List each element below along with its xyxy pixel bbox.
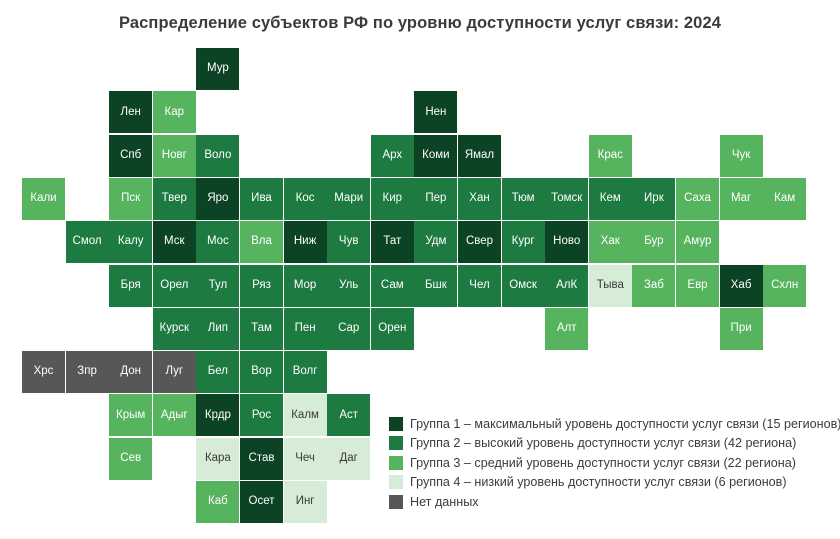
region-tile[interactable]: Саха (676, 178, 719, 220)
region-tile-label: Каб (208, 496, 228, 508)
region-tile[interactable]: Пен (284, 308, 327, 350)
region-tile-label: Ямал (465, 150, 494, 162)
region-tile-label: Тул (209, 280, 228, 292)
region-tile[interactable]: Новг (153, 135, 196, 177)
region-tile[interactable]: Бря (109, 265, 152, 307)
region-tile[interactable]: Бшк (414, 265, 457, 307)
legend-item-group2[interactable]: Группа 2 – высокий уровень доступности у… (389, 434, 829, 454)
region-tile[interactable]: Тат (371, 221, 414, 263)
region-tile-label: Бшк (425, 280, 447, 292)
legend-swatch-icon (389, 436, 403, 450)
region-tile-label: Арх (382, 150, 402, 162)
region-tile[interactable]: Свер (458, 221, 501, 263)
region-tile[interactable]: Схлн (763, 265, 806, 307)
region-tile[interactable]: Каб (196, 481, 239, 523)
region-tile[interactable]: Чел (458, 265, 501, 307)
region-tile-label: Волг (293, 366, 318, 378)
region-tile[interactable]: Даг (327, 438, 370, 480)
region-tile-label: Уль (339, 280, 358, 292)
region-tile[interactable]: Тюм (502, 178, 545, 220)
region-tile[interactable]: Крым (109, 394, 152, 436)
region-tile-label: АлК (556, 280, 577, 292)
region-tile-label: Курск (160, 323, 190, 335)
legend-swatch-icon (389, 475, 403, 489)
region-tile-label: Луг (165, 366, 183, 378)
legend-item-label: Группа 1 – максимальный уровень доступно… (410, 417, 840, 431)
region-tile-label: Сам (381, 280, 404, 292)
legend-item-label: Группа 4 – низкий уровень доступности ус… (410, 475, 787, 489)
region-tile[interactable]: Коми (414, 135, 457, 177)
region-tile-label: Спб (120, 150, 141, 162)
region-tile-label: Кос (296, 193, 315, 205)
legend-item-label: Группа 2 – высокий уровень доступности у… (410, 436, 796, 450)
region-tile[interactable]: Ниж (284, 221, 327, 263)
region-tile-label: Калм (291, 410, 319, 422)
region-tile-label: Тат (383, 236, 401, 248)
region-tile[interactable]: Алт (545, 308, 588, 350)
region-tile[interactable]: Евр (676, 265, 719, 307)
region-tile-label: Крым (116, 410, 145, 422)
region-tile[interactable]: Луг (153, 351, 196, 393)
region-tile[interactable]: Курск (153, 308, 196, 350)
region-tile[interactable]: Калм (284, 394, 327, 436)
legend: Группа 1 – максимальный уровень доступно… (389, 414, 829, 512)
legend-item-group3[interactable]: Группа 3 – средний уровень доступности у… (389, 453, 829, 473)
region-tile[interactable]: Кир (371, 178, 414, 220)
region-tile-label: Бря (121, 280, 141, 292)
legend-item-label: Нет данных (410, 495, 479, 509)
region-tile-label: Чув (339, 236, 359, 248)
region-tile-label: Хаб (731, 280, 752, 292)
region-tile[interactable]: Крас (589, 135, 632, 177)
region-tile[interactable]: Кар (153, 91, 196, 133)
region-tile[interactable]: Кам (763, 178, 806, 220)
region-tile[interactable]: Заб (632, 265, 675, 307)
region-tile-label: Тыва (597, 280, 624, 292)
region-tile[interactable]: Смол (66, 221, 109, 263)
region-tile[interactable]: Мос (196, 221, 239, 263)
region-tile-label: Яро (207, 193, 228, 205)
region-tile[interactable]: Омск (502, 265, 545, 307)
region-tile[interactable]: Маг (720, 178, 763, 220)
region-tile[interactable]: Мор (284, 265, 327, 307)
region-tile-label: Осет (249, 496, 275, 508)
region-tile-label: Сев (120, 453, 141, 465)
region-tile-label: Аст (339, 410, 358, 422)
region-tile-label: Омск (509, 280, 537, 292)
region-tile-label: Тюм (512, 193, 535, 205)
region-tile[interactable]: Кем (589, 178, 632, 220)
legend-item-group1[interactable]: Группа 1 – максимальный уровень доступно… (389, 414, 829, 434)
region-tile[interactable]: Лен (109, 91, 152, 133)
region-tile-label: Чеч (295, 453, 315, 465)
region-tile-label: Кург (512, 236, 535, 248)
region-tile-label: Пен (295, 323, 316, 335)
legend-item-nodata[interactable]: Нет данных (389, 492, 829, 512)
region-tile[interactable]: Хаб (720, 265, 763, 307)
region-tile[interactable]: Хак (589, 221, 632, 263)
region-tile[interactable]: Бел (196, 351, 239, 393)
region-tile-label: Томск (551, 193, 582, 205)
region-tile-label: Мари (334, 193, 363, 205)
region-tile-label: Алт (557, 323, 577, 335)
region-tile[interactable]: Кург (502, 221, 545, 263)
region-tile[interactable]: Сар (327, 308, 370, 350)
region-tile-label: Даг (339, 453, 357, 465)
region-tile[interactable]: Воло (196, 135, 239, 177)
region-tile[interactable]: Твер (153, 178, 196, 220)
legend-swatch-icon (389, 417, 403, 431)
region-tile-label: Зпр (77, 366, 97, 378)
region-tile-label: Мор (294, 280, 317, 292)
region-tile-label: Амур (684, 236, 712, 248)
region-tile[interactable]: Ива (240, 178, 283, 220)
region-tile[interactable]: Арх (371, 135, 414, 177)
region-tile-label: Кир (383, 193, 403, 205)
region-tile[interactable]: Кара (196, 438, 239, 480)
region-tile[interactable]: Спб (109, 135, 152, 177)
region-tile-label: Адыг (161, 410, 188, 422)
region-tile-label: Маг (731, 193, 751, 205)
region-tile-label: Орел (160, 280, 188, 292)
region-tile-label: Ниж (294, 236, 316, 248)
region-tile-label: Кам (774, 193, 795, 205)
region-tile[interactable]: Калу (109, 221, 152, 263)
region-tile[interactable]: Ново (545, 221, 588, 263)
region-tile[interactable]: Вор (240, 351, 283, 393)
region-tile-label: Кара (205, 453, 231, 465)
region-tile[interactable]: Хрс (22, 351, 65, 393)
region-tile[interactable]: Рос (240, 394, 283, 436)
region-tile-label: Чук (732, 150, 750, 162)
region-tile-label: Лен (121, 107, 141, 119)
region-tile[interactable]: Аст (327, 394, 370, 436)
region-tile[interactable]: Сам (371, 265, 414, 307)
region-tile[interactable]: Хан (458, 178, 501, 220)
region-tile-label: Хрс (34, 366, 54, 378)
region-tile[interactable]: Тул (196, 265, 239, 307)
region-tile[interactable]: Тыва (589, 265, 632, 307)
region-tile[interactable]: Осет (240, 481, 283, 523)
region-tile[interactable]: Пер (414, 178, 457, 220)
region-tile[interactable]: Амур (676, 221, 719, 263)
region-tile[interactable]: Адыг (153, 394, 196, 436)
region-tile[interactable]: Уль (327, 265, 370, 307)
region-tile-label: Крас (598, 150, 623, 162)
region-tile-label: Хак (601, 236, 620, 248)
region-tile-label: Воло (204, 150, 231, 162)
region-tile-label: Ново (553, 236, 580, 248)
region-tile-label: Орен (378, 323, 406, 335)
region-tile-label: Мур (207, 63, 229, 75)
region-tile-label: Схлн (771, 280, 798, 292)
region-tile[interactable]: Зпр (66, 351, 109, 393)
region-tile[interactable]: Пск (109, 178, 152, 220)
region-tile[interactable]: Чеч (284, 438, 327, 480)
region-tile[interactable]: Волг (284, 351, 327, 393)
region-tile[interactable]: Ряз (240, 265, 283, 307)
region-tile[interactable]: Ирк (632, 178, 675, 220)
legend-item-label: Группа 3 – средний уровень доступности у… (410, 456, 796, 470)
region-tile-label: Став (249, 453, 275, 465)
region-tile-label: Лип (208, 323, 228, 335)
region-tile-label: Вла (251, 236, 272, 248)
region-tile[interactable]: Сев (109, 438, 152, 480)
legend-swatch-icon (389, 456, 403, 470)
region-tile-label: Коми (422, 150, 449, 162)
region-tile-label: Саха (684, 193, 711, 205)
region-tile[interactable]: Мск (153, 221, 196, 263)
region-tile[interactable]: Крдр (196, 394, 239, 436)
region-tile[interactable]: Кос (284, 178, 327, 220)
region-tile[interactable]: Яро (196, 178, 239, 220)
region-tile[interactable]: Ямал (458, 135, 501, 177)
region-tile[interactable]: АлК (545, 265, 588, 307)
region-tile-label: Калу (118, 236, 144, 248)
region-tile-label: Ирк (644, 193, 664, 205)
region-tile-label: При (731, 323, 752, 335)
region-tile[interactable]: Орел (153, 265, 196, 307)
region-tile[interactable]: Там (240, 308, 283, 350)
region-tile-label: Смол (73, 236, 102, 248)
region-tile-label: Евр (687, 280, 707, 292)
region-tile-label: Бел (208, 366, 228, 378)
region-tile[interactable]: При (720, 308, 763, 350)
region-tile[interactable]: Орен (371, 308, 414, 350)
legend-swatch-icon (389, 495, 403, 509)
region-tile-label: Ива (251, 193, 272, 205)
region-tile[interactable]: Бур (632, 221, 675, 263)
region-tile-label: Там (251, 323, 272, 335)
region-tile-label: Мск (164, 236, 185, 248)
region-tile-label: Рос (252, 410, 271, 422)
region-tile[interactable]: Чук (720, 135, 763, 177)
region-tile-label: Вор (251, 366, 271, 378)
region-tile[interactable]: Томск (545, 178, 588, 220)
region-tile-label: Твер (162, 193, 187, 205)
region-tile-label: Пск (121, 193, 140, 205)
region-tile-label: Чел (469, 280, 489, 292)
region-tile-label: Хан (469, 193, 489, 205)
region-tile-label: Пер (425, 193, 446, 205)
region-tile[interactable]: Вла (240, 221, 283, 263)
region-tile-label: Инг (296, 496, 315, 508)
region-tile[interactable]: Лип (196, 308, 239, 350)
region-tile-label: Новг (162, 150, 187, 162)
region-tile-label: Удм (425, 236, 446, 248)
region-tile[interactable]: Нен (414, 91, 457, 133)
region-tile[interactable]: Став (240, 438, 283, 480)
region-tile-label: Нен (425, 107, 446, 119)
region-tile-label: Свер (466, 236, 493, 248)
region-tile[interactable]: Мур (196, 48, 239, 90)
region-tile[interactable]: Удм (414, 221, 457, 263)
region-tile-label: Бур (644, 236, 663, 248)
region-tile[interactable]: Мари (327, 178, 370, 220)
region-tile[interactable]: Чув (327, 221, 370, 263)
legend-item-group4[interactable]: Группа 4 – низкий уровень доступности ус… (389, 473, 829, 493)
region-tile-label: Кар (165, 107, 185, 119)
region-tile-label: Крдр (205, 410, 231, 422)
region-tile-label: Дон (120, 366, 141, 378)
region-tile[interactable]: Инг (284, 481, 327, 523)
region-tile-label: Ряз (252, 280, 271, 292)
region-tile[interactable]: Дон (109, 351, 152, 393)
region-tile[interactable]: Кали (22, 178, 65, 220)
region-tile-label: Кали (30, 193, 56, 205)
region-tile-label: Кем (600, 193, 621, 205)
region-tile-label: Мос (207, 236, 229, 248)
region-tile-label: Сар (338, 323, 359, 335)
region-tile-label: Заб (644, 280, 664, 292)
